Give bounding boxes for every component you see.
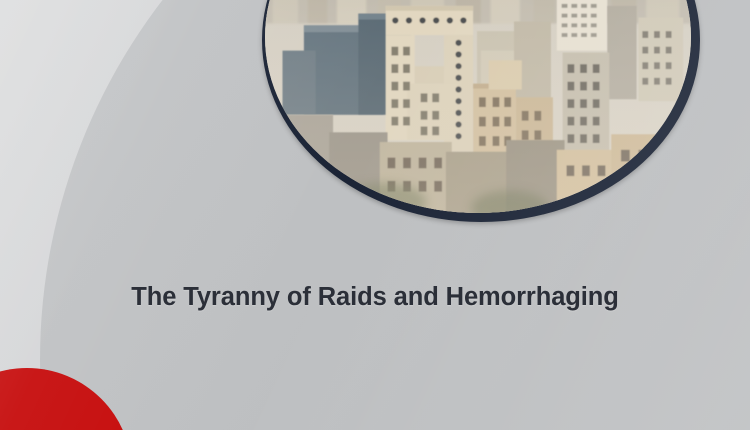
page-title: The Tyranny of Raids and Hemorrhaging <box>0 283 750 312</box>
cityscape-illustration <box>265 0 691 213</box>
title-slide: The Tyranny of Raids and Hemorrhaging <box>0 0 750 430</box>
photo-clip <box>265 0 691 213</box>
cityscape-photo <box>262 0 700 222</box>
